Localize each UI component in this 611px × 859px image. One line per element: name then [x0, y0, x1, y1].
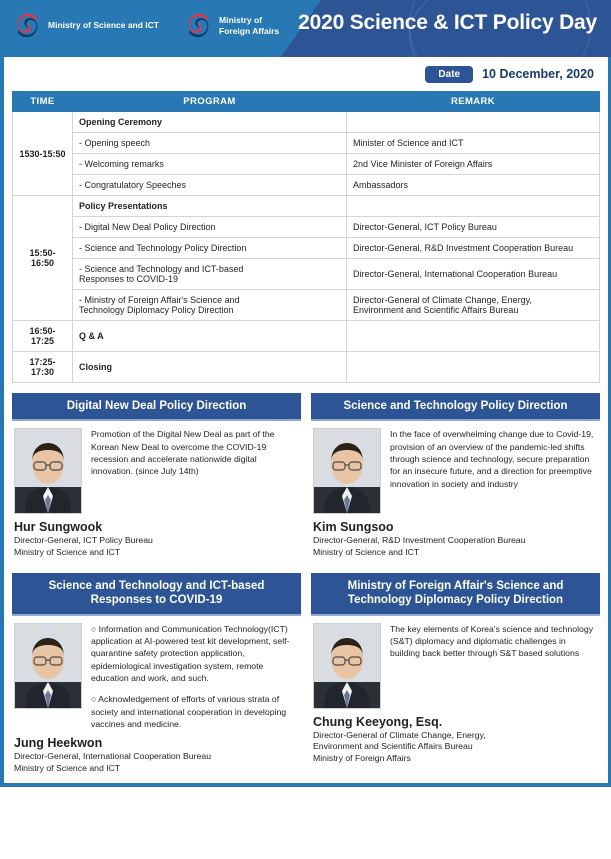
- speaker-name: Hur Sungwook: [14, 520, 299, 534]
- table-row: - Congratulatory SpeechesAmbassadors: [13, 175, 600, 196]
- cell-program: - Science and Technology Policy Directio…: [73, 238, 347, 259]
- cell-program: - Ministry of Foreign Affair's Science a…: [73, 290, 347, 321]
- card-heading: Science and Technology Policy Direction: [311, 393, 600, 421]
- ministry-logos: Ministry of Science and ICT Ministry of …: [14, 12, 279, 39]
- card-body: Promotion of the Digital New Deal as par…: [12, 421, 301, 516]
- table-row: - Welcoming remarks2nd Vice Minister of …: [13, 154, 600, 175]
- table-row: - Ministry of Foreign Affair's Science a…: [13, 290, 600, 321]
- cell-program: - Science and Technology and ICT-based R…: [73, 259, 347, 290]
- card-body: The key elements of Korea's science and …: [311, 616, 600, 711]
- header-banner: Ministry of Science and ICT Ministry of …: [0, 0, 611, 57]
- speaker-card: Science and Technology and ICT-based Res…: [12, 573, 301, 781]
- cell-program: Opening Ceremony: [73, 112, 347, 133]
- cell-program: - Congratulatory Speeches: [73, 175, 347, 196]
- card-blurb: ○ Information and Communication Technolo…: [91, 623, 299, 685]
- speaker-name: Chung Keeyong, Esq.: [313, 715, 598, 729]
- speaker-role: Director-General, International Cooperat…: [14, 751, 299, 774]
- card-blurb-secondary: ○ Acknowledgement of efforts of various …: [91, 693, 299, 730]
- page-title: 2020 Science & ICT Policy Day: [298, 11, 597, 35]
- card-blurb: Promotion of the Digital New Deal as par…: [91, 428, 299, 477]
- date-value: 10 December, 2020: [482, 67, 594, 81]
- column-header-time: TIME: [13, 92, 73, 112]
- cell-program: - Opening speech: [73, 133, 347, 154]
- cell-remark: [347, 321, 600, 352]
- card-heading: Ministry of Foreign Affair's Science and…: [311, 573, 600, 616]
- speaker-info: Chung Keeyong, Esq.Director-General of C…: [311, 711, 600, 771]
- speaker-role: Director-General, ICT Policy Bureau Mini…: [14, 535, 299, 558]
- speaker-name: Jung Heekwon: [14, 736, 299, 750]
- taegeuk-icon: [14, 12, 41, 39]
- cell-time: 17:25-17:30: [13, 352, 73, 383]
- speaker-photo-illustration: [314, 429, 380, 513]
- speaker-name: Kim Sungsoo: [313, 520, 598, 534]
- cell-program: Q & A: [73, 321, 347, 352]
- speaker-card: Science and Technology Policy DirectionI…: [311, 393, 600, 565]
- card-body: In the face of overwhelming change due t…: [311, 421, 600, 516]
- speaker-photo-illustration: [314, 624, 380, 708]
- speaker-info: Kim SungsooDirector-General, R&D Investm…: [311, 516, 600, 564]
- speaker-photo: [14, 623, 82, 709]
- cell-time: 1530-15:50: [13, 112, 73, 196]
- table-row: 16:50-17:25Q & A: [13, 321, 600, 352]
- card-body: ○ Information and Communication Technolo…: [12, 616, 301, 733]
- card-heading: Science and Technology and ICT-based Res…: [12, 573, 301, 616]
- date-chip: Date: [425, 66, 473, 83]
- table-header-row: TIME PROGRAM REMARK: [13, 92, 600, 112]
- table-row: 1530-15:50Opening Ceremony: [13, 112, 600, 133]
- speaker-info: Jung HeekwonDirector-General, Internatio…: [12, 732, 301, 780]
- logo-ministry-foreign-affairs: Ministry of Foreign Affairs: [185, 12, 279, 39]
- agenda-table: TIME PROGRAM REMARK 1530-15:50Opening Ce…: [12, 91, 600, 383]
- table-row: - Digital New Deal Policy DirectionDirec…: [13, 217, 600, 238]
- cell-program: - Digital New Deal Policy Direction: [73, 217, 347, 238]
- table-row: - Science and Technology and ICT-based R…: [13, 259, 600, 290]
- cell-time: 15:50-16:50: [13, 196, 73, 321]
- card-blurb: In the face of overwhelming change due t…: [390, 428, 598, 490]
- cell-remark: [347, 196, 600, 217]
- cell-remark: Director-General, R&D Investment Coopera…: [347, 238, 600, 259]
- cell-remark: [347, 352, 600, 383]
- cell-program: Closing: [73, 352, 347, 383]
- page-bottom-border: [0, 781, 611, 787]
- table-row: - Science and Technology Policy Directio…: [13, 238, 600, 259]
- logo-label-science-ict: Ministry of Science and ICT: [48, 20, 159, 31]
- agenda-table-wrap: TIME PROGRAM REMARK 1530-15:50Opening Ce…: [0, 91, 611, 383]
- taegeuk-icon: [185, 12, 212, 39]
- poster-page: Ministry of Science and ICT Ministry of …: [0, 0, 611, 859]
- cell-remark: Director-General of Climate Change, Ener…: [347, 290, 600, 321]
- cell-remark: Minister of Science and ICT: [347, 133, 600, 154]
- speaker-card: Digital New Deal Policy DirectionPromoti…: [12, 393, 301, 565]
- speaker-info: Hur SungwookDirector-General, ICT Policy…: [12, 516, 301, 564]
- card-blurb: The key elements of Korea's science and …: [390, 623, 598, 660]
- table-row: - Opening speechMinister of Science and …: [13, 133, 600, 154]
- column-header-remark: REMARK: [347, 92, 600, 112]
- cell-remark: Ambassadors: [347, 175, 600, 196]
- speaker-role: Director-General of Climate Change, Ener…: [313, 730, 598, 765]
- speaker-photo: [14, 428, 82, 514]
- speaker-photo: [313, 623, 381, 709]
- card-heading: Digital New Deal Policy Direction: [12, 393, 301, 421]
- speaker-role: Director-General, R&D Investment Coopera…: [313, 535, 598, 558]
- speaker-photo-illustration: [15, 624, 81, 708]
- cell-remark: [347, 112, 600, 133]
- cell-program: Policy Presentations: [73, 196, 347, 217]
- speaker-photo-illustration: [15, 429, 81, 513]
- table-row: 15:50-16:50Policy Presentations: [13, 196, 600, 217]
- cell-remark: Director-General, ICT Policy Bureau: [347, 217, 600, 238]
- speaker-card: Ministry of Foreign Affair's Science and…: [311, 573, 600, 781]
- cell-remark: Director-General, International Cooperat…: [347, 259, 600, 290]
- speaker-photo: [313, 428, 381, 514]
- logo-ministry-science-ict: Ministry of Science and ICT: [14, 12, 159, 39]
- cell-program: - Welcoming remarks: [73, 154, 347, 175]
- cell-time: 16:50-17:25: [13, 321, 73, 352]
- table-row: 17:25-17:30Closing: [13, 352, 600, 383]
- speaker-cards-grid: Digital New Deal Policy DirectionPromoti…: [0, 383, 611, 781]
- date-bar: Date 10 December, 2020: [0, 57, 611, 91]
- cell-remark: 2nd Vice Minister of Foreign Affairs: [347, 154, 600, 175]
- column-header-program: PROGRAM: [73, 92, 347, 112]
- logo-label-foreign-affairs: Ministry of Foreign Affairs: [219, 15, 279, 36]
